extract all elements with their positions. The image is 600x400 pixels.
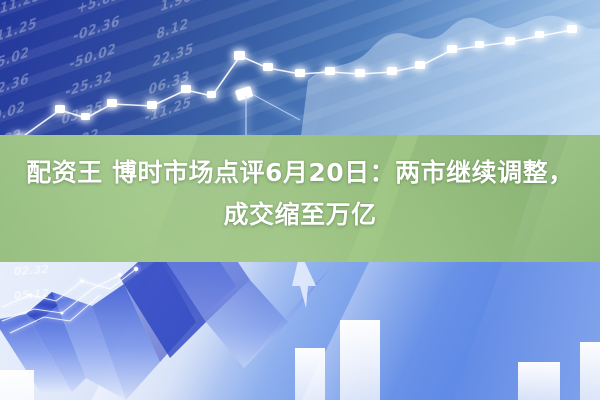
banner-image: -05.02-02.3521.02-50.02 -02.35-11.2545.0… bbox=[0, 0, 600, 400]
chart-nodes bbox=[13, 25, 577, 144]
title-line-2: 成交缩至万亿 bbox=[0, 194, 600, 236]
ghost-number: 02.32 bbox=[13, 263, 50, 278]
title-line-1: 配资王 博时市场点评6月20日：两市继续调整， bbox=[0, 152, 600, 194]
chart-polyline bbox=[18, 30, 572, 140]
ghost-number: 05.12 bbox=[13, 287, 50, 302]
ticker-board-background: -05.02-02.3521.02-50.02 -02.35-11.2545.0… bbox=[0, 0, 600, 145]
glow-line-chart bbox=[0, 0, 600, 145]
page-title: 配资王 博时市场点评6月20日：两市继续调整， 成交缩至万亿 bbox=[0, 152, 600, 236]
